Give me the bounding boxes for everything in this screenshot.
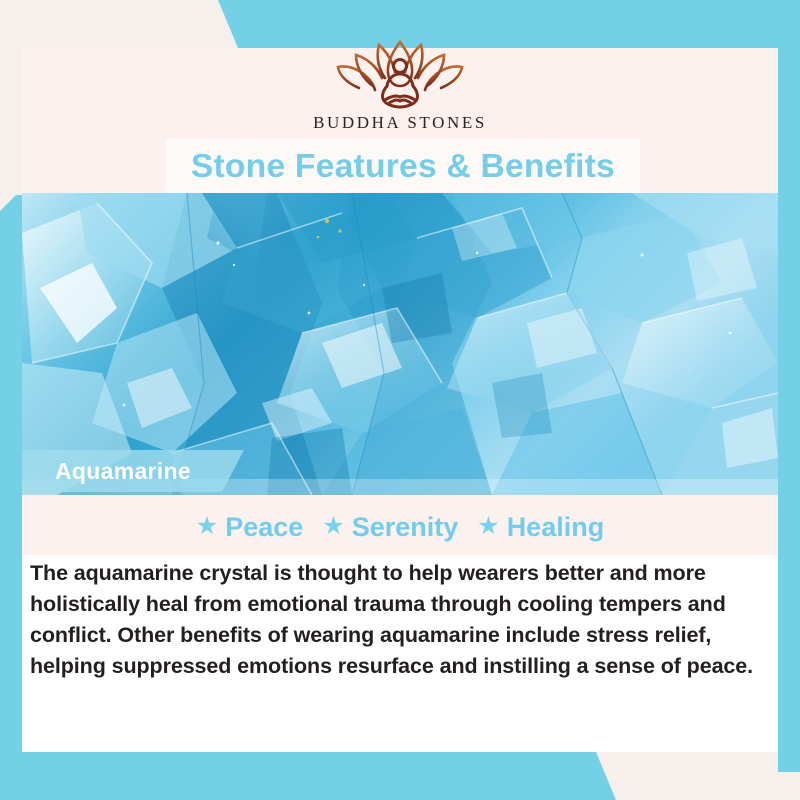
poster: BUDDHA STONES Stone Features & Benefits [0, 0, 800, 800]
stone-name-tag: Aquamarine [22, 450, 244, 492]
star-icon: ★ [322, 514, 344, 539]
title-banner: Stone Features & Benefits [165, 139, 640, 193]
hero-image [22, 193, 778, 495]
decor-band-bottom [0, 752, 800, 800]
keyword-row: ★ Peace ★ Serenity ★ Healing [22, 512, 778, 543]
brand-name: BUDDHA STONES [313, 113, 487, 133]
star-icon: ★ [477, 514, 499, 539]
lotus-meditation-icon [325, 34, 475, 117]
description-text: The aquamarine crystal is thought to hel… [30, 558, 760, 682]
keyword-healing: Healing [507, 512, 605, 543]
page-title: Stone Features & Benefits [190, 147, 614, 185]
keyword-peace: Peace [225, 512, 303, 543]
star-icon: ★ [196, 514, 218, 539]
stone-name-label: Aquamarine [22, 458, 191, 485]
keyword-serenity: Serenity [352, 512, 459, 543]
decor-band-left [0, 195, 22, 800]
brand-header: BUDDHA STONES [22, 48, 778, 141]
decor-band-right [778, 0, 800, 772]
